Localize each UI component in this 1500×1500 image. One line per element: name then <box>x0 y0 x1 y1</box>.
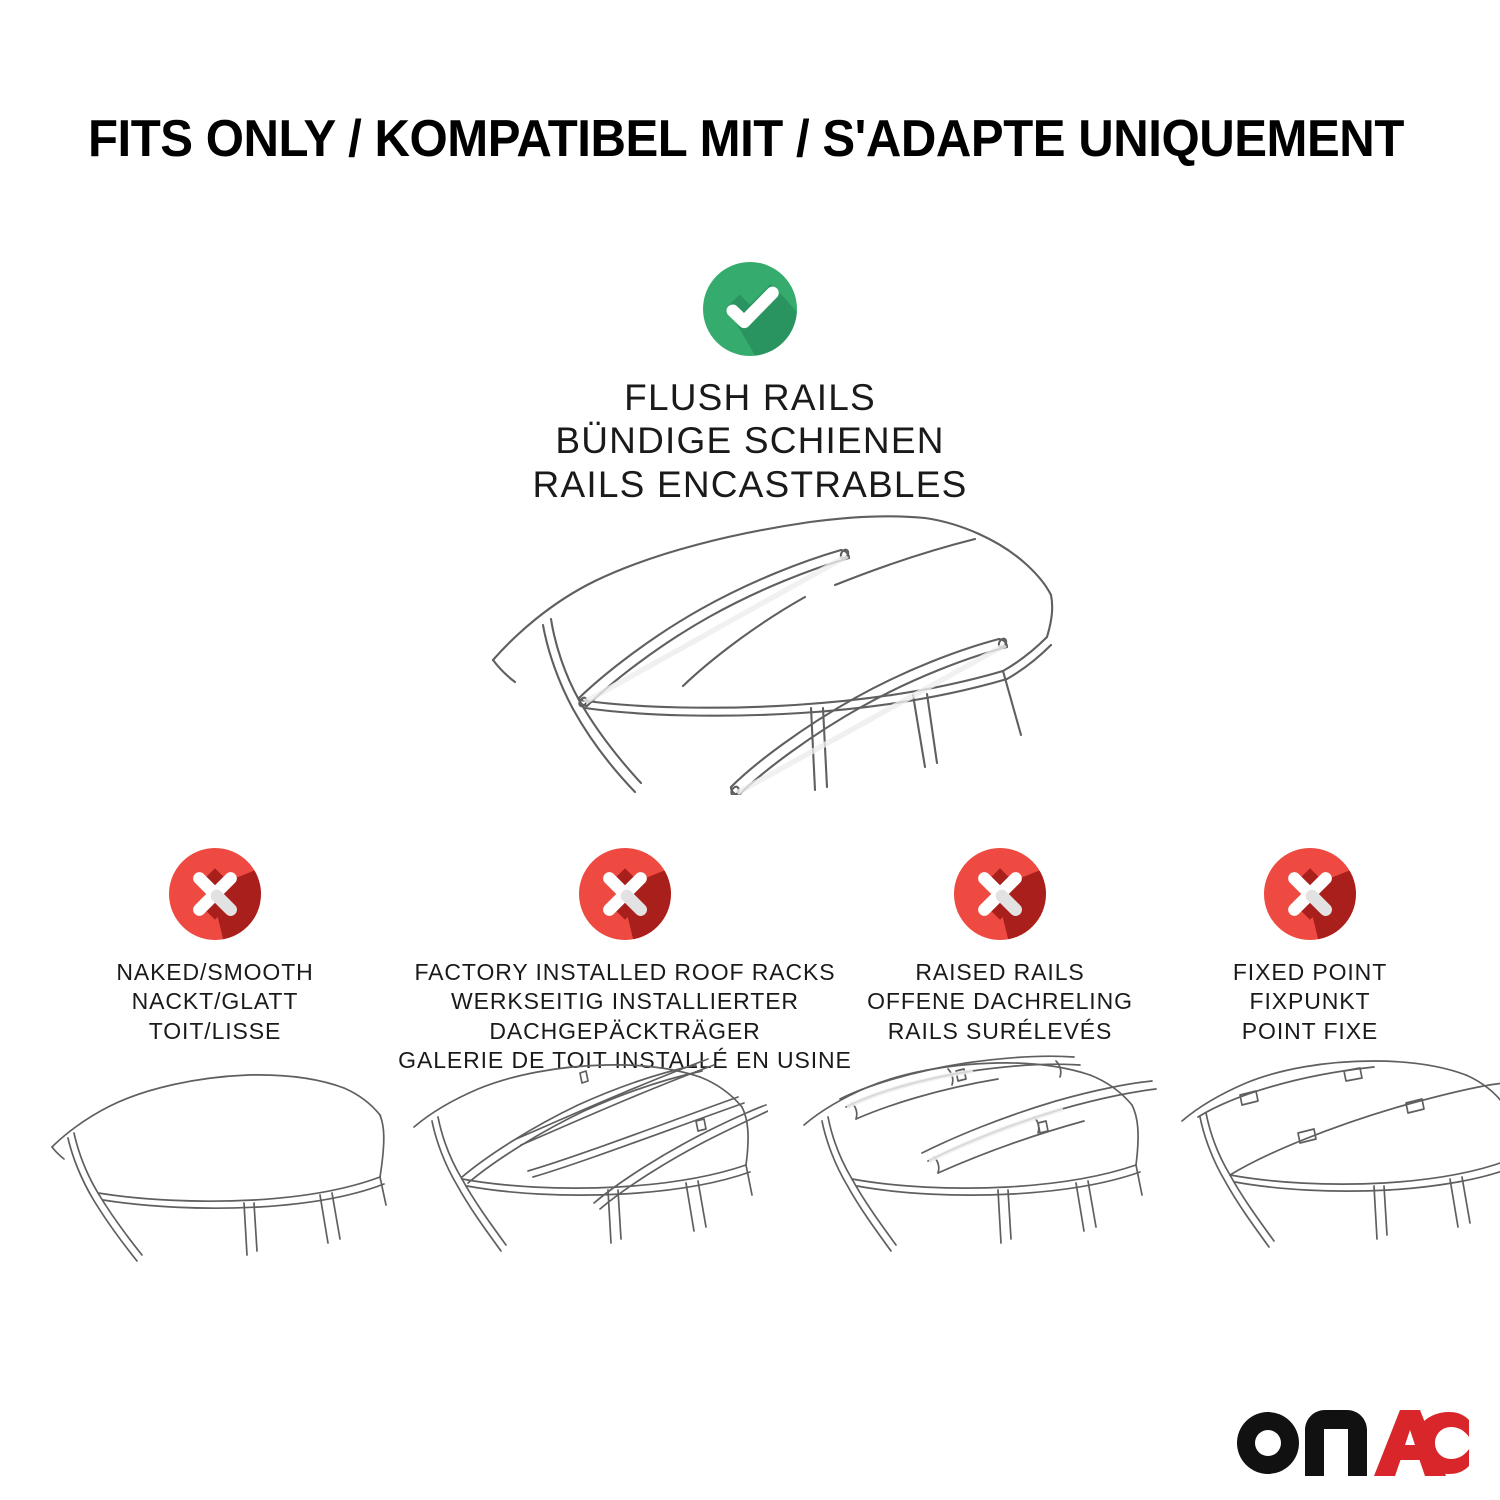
compatible-section: FLUSH RAILS BÜNDIGE SCHIENEN RAILS ENCAS… <box>380 262 1120 506</box>
incompatible-label-de-1: WERKSEITIG INSTALLIERTER <box>398 987 852 1016</box>
x-mark-glyph <box>954 848 1046 940</box>
x-circle-icon <box>579 848 671 940</box>
x-circle-icon <box>169 848 261 940</box>
bottom-diagram-row <box>0 1055 1500 1275</box>
logo-letter-m <box>1305 1410 1367 1476</box>
x-mark-glyph <box>1264 848 1356 940</box>
incompatible-item-naked-smooth: NAKED/SMOOTH NACKT/GLATT TOIT/LISSE <box>65 848 365 1046</box>
incompatible-label-de: NACKT/GLATT <box>116 987 313 1016</box>
page-title-text: FITS ONLY / KOMPATIBEL MIT / S'ADAPTE UN… <box>88 109 1404 169</box>
compatible-labels: FLUSH RAILS BÜNDIGE SCHIENEN RAILS ENCAS… <box>533 376 968 506</box>
logo-letter-o <box>1237 1412 1299 1474</box>
x-circle-icon <box>1264 848 1356 940</box>
compatible-label-en: FLUSH RAILS <box>533 376 968 419</box>
omac-logo <box>1237 1410 1469 1476</box>
incompatible-labels: RAISED RAILS OFFENE DACHRELING RAILS SUR… <box>867 958 1133 1046</box>
incompatible-labels: NAKED/SMOOTH NACKT/GLATT TOIT/LISSE <box>116 958 313 1046</box>
car-roof-naked-smooth-diagram <box>48 1055 388 1265</box>
incompatible-label-fr: POINT FIXE <box>1233 1017 1387 1046</box>
incompatible-label-en: FACTORY INSTALLED ROOF RACKS <box>398 958 852 987</box>
car-roof-factory-racks-diagram <box>408 1055 768 1265</box>
page-title: FITS ONLY / KOMPATIBEL MIT / S'ADAPTE UN… <box>88 108 1428 170</box>
incompatible-row: NAKED/SMOOTH NACKT/GLATT TOIT/LISSE <box>0 848 1500 1058</box>
x-mark-glyph <box>169 848 261 940</box>
compatible-label-de: BÜNDIGE SCHIENEN <box>533 419 968 462</box>
check-mark-glyph <box>703 262 797 356</box>
incompatible-label-de: FIXPUNKT <box>1233 987 1387 1016</box>
car-roof-fixed-point-diagram <box>1178 1055 1500 1265</box>
incompatible-label-en: RAISED RAILS <box>867 958 1133 987</box>
x-circle-icon <box>954 848 1046 940</box>
compatibility-infographic: FITS ONLY / KOMPATIBEL MIT / S'ADAPTE UN… <box>0 0 1500 1500</box>
incompatible-item-factory-installed-roof-racks: FACTORY INSTALLED ROOF RACKS WERKSEITIG … <box>395 848 855 1076</box>
incompatible-label-fr: TOIT/LISSE <box>116 1017 313 1046</box>
car-roof-raised-rails-diagram <box>798 1055 1158 1265</box>
incompatible-label-en: FIXED POINT <box>1233 958 1387 987</box>
incompatible-label-fr: RAILS SURÉLEVÉS <box>867 1017 1133 1046</box>
incompatible-label-de-2: DACHGEPÄCKTRÄGER <box>398 1017 852 1046</box>
incompatible-labels: FIXED POINT FIXPUNKT POINT FIXE <box>1233 958 1387 1046</box>
car-roof-flush-rails-diagram <box>455 495 1055 795</box>
incompatible-item-fixed-point: FIXED POINT FIXPUNKT POINT FIXE <box>1185 848 1435 1046</box>
incompatible-label-en: NAKED/SMOOTH <box>116 958 313 987</box>
incompatible-item-raised-rails: RAISED RAILS OFFENE DACHRELING RAILS SUR… <box>845 848 1155 1046</box>
incompatible-label-de: OFFENE DACHRELING <box>867 987 1133 1016</box>
x-mark-glyph <box>579 848 671 940</box>
check-circle-icon <box>703 262 797 356</box>
